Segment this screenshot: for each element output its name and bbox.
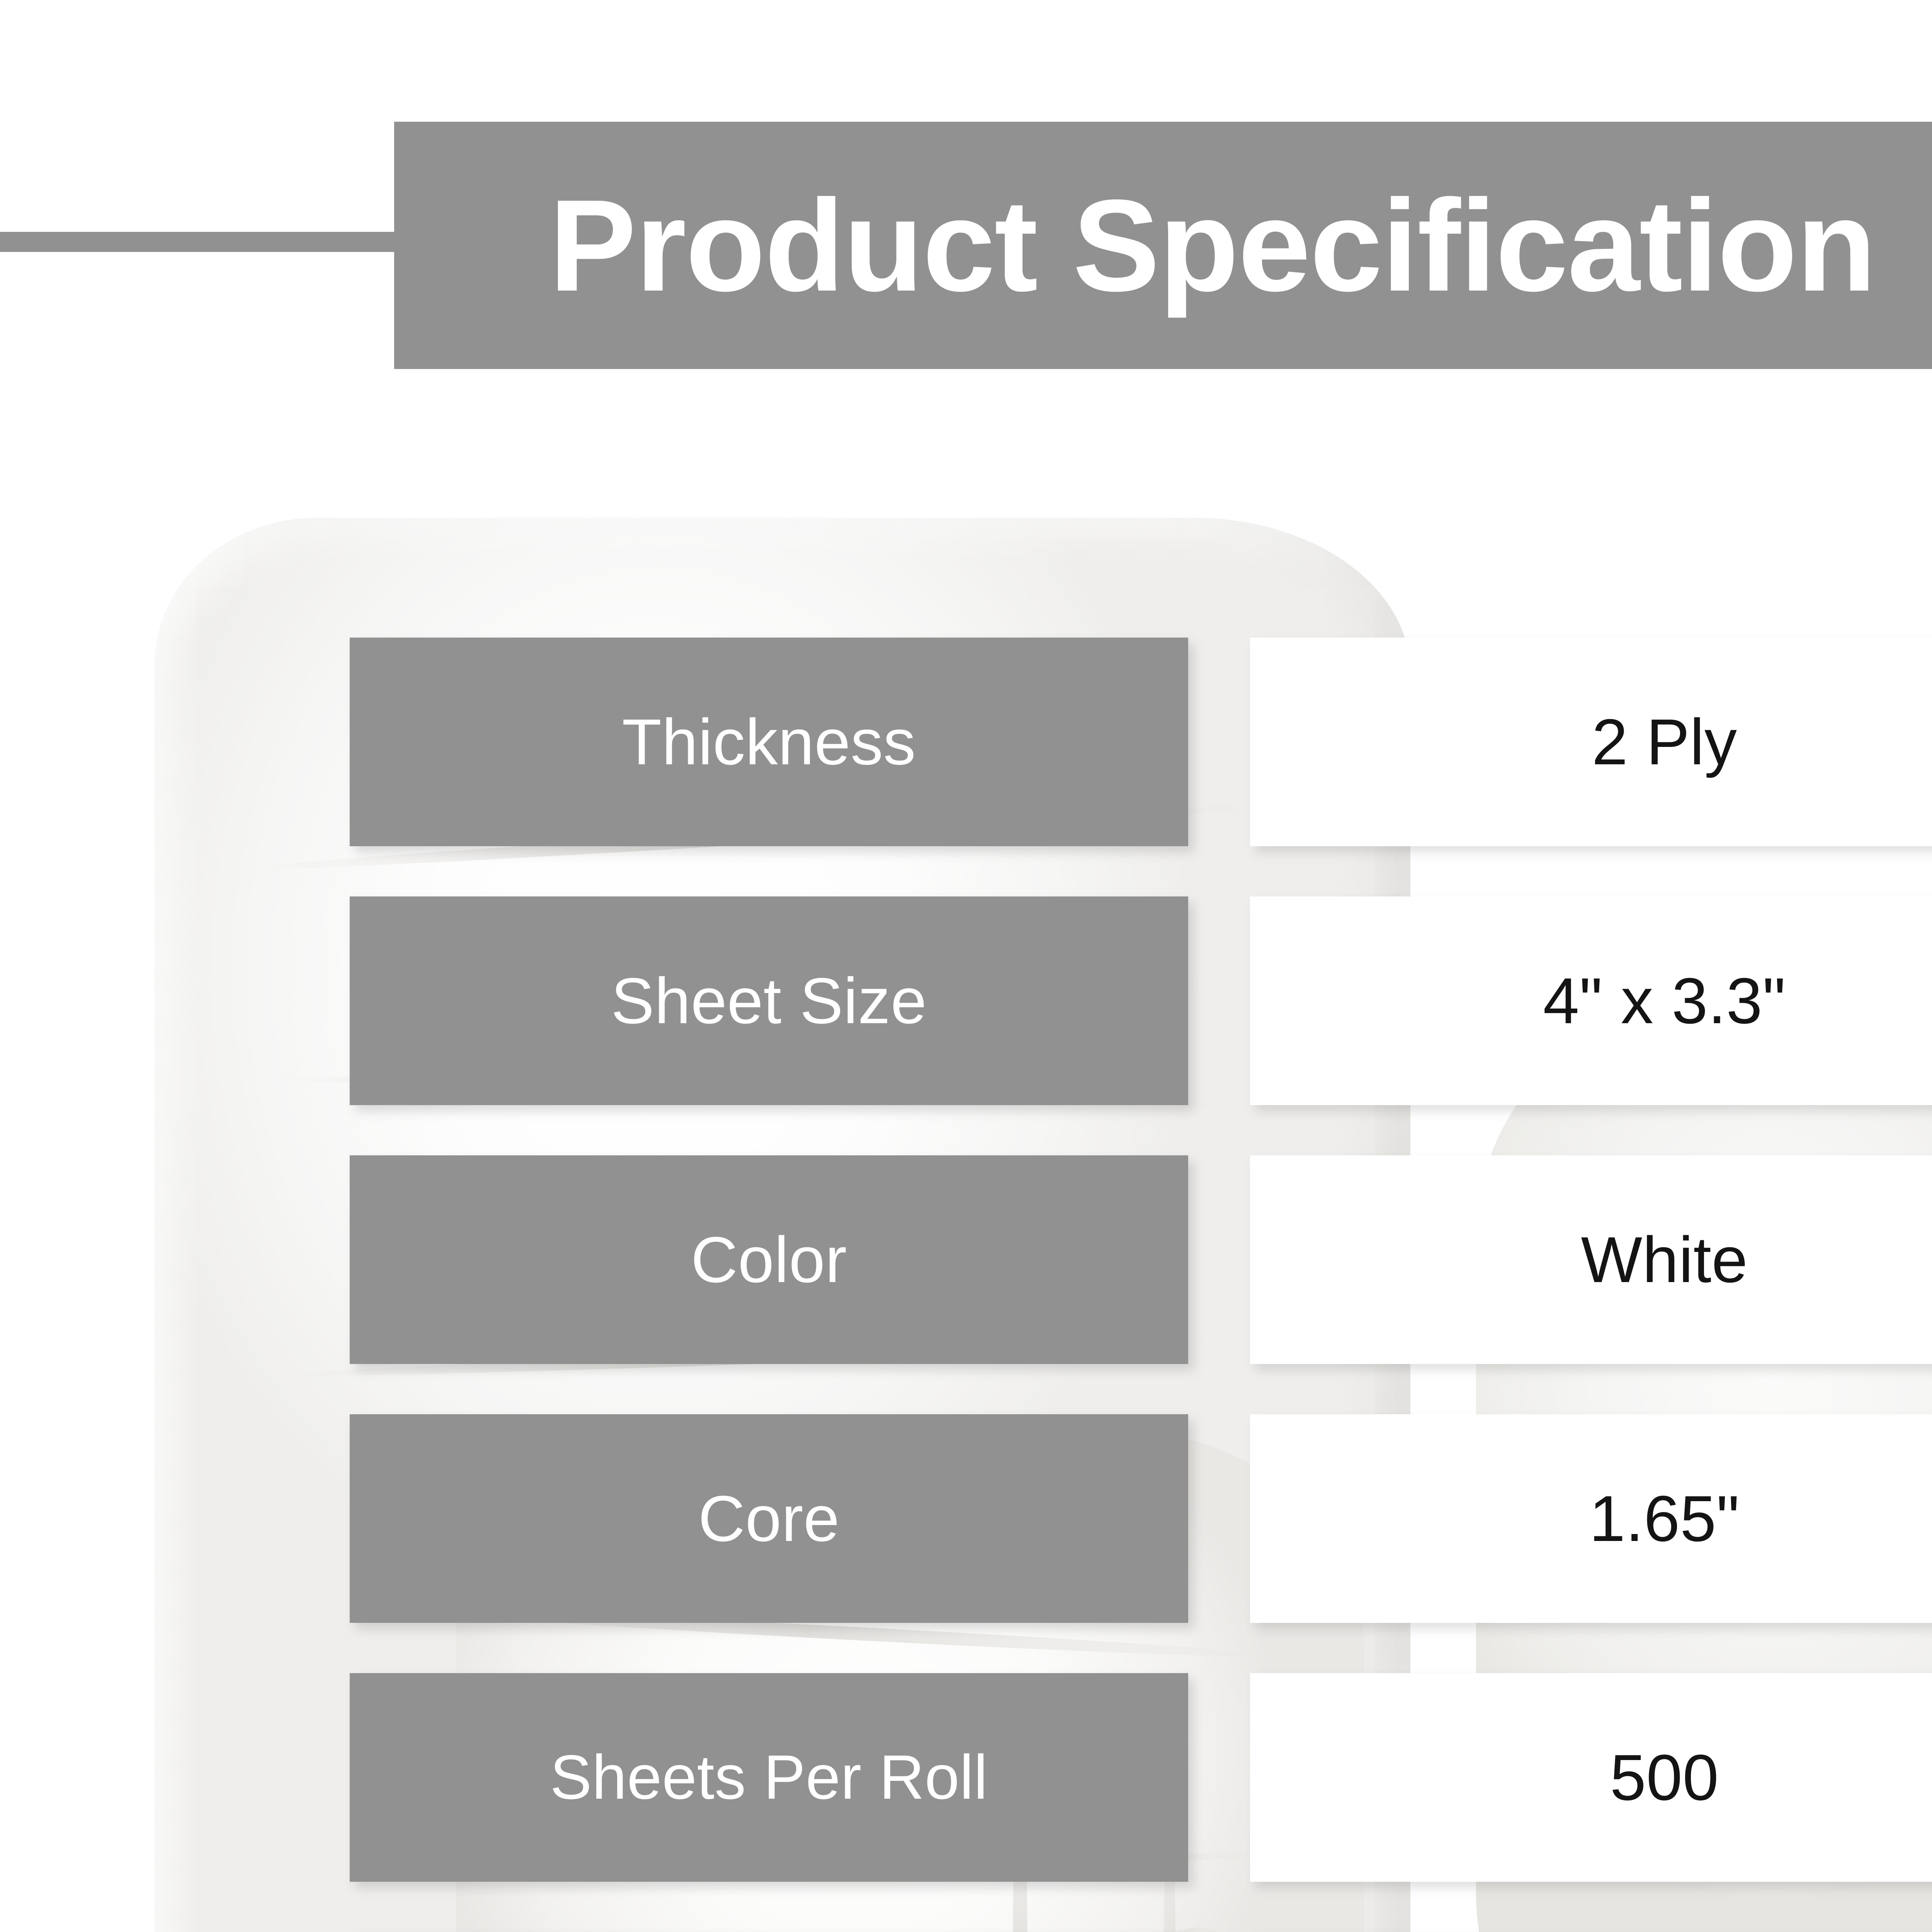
spec-value-cell: 500 (1250, 1673, 1932, 1882)
spec-label-cell: Sheet Size (350, 896, 1188, 1105)
spec-value-text: White (1581, 1227, 1748, 1292)
spec-value-text: 500 (1610, 1745, 1719, 1810)
table-row: Sheets Per Roll 500 (0, 1673, 1932, 1882)
table-row: Thickness 2 Ply (0, 638, 1932, 846)
spec-label-text: Color (691, 1227, 847, 1292)
page-title: Product Specification (549, 180, 1875, 311)
spec-label-cell: Color (350, 1155, 1188, 1364)
spec-value-text: 4" x 3.3" (1543, 968, 1786, 1033)
spec-value-text: 1.65" (1589, 1486, 1740, 1551)
spec-value-cell: 4" x 3.3" (1250, 896, 1932, 1105)
table-row: Sheet Size 4" x 3.3" (0, 896, 1932, 1105)
spec-label-cell: Core (350, 1414, 1188, 1623)
table-row: Core 1.65" (0, 1414, 1932, 1623)
spec-label-text: Sheets Per Roll (550, 1746, 988, 1809)
spec-label-text: Sheet Size (611, 968, 927, 1033)
title-banner: Product Specification (394, 122, 1932, 369)
spec-value-cell: 1.65" (1250, 1414, 1932, 1623)
page-header: Product Specification (0, 0, 1932, 386)
spec-label-cell: Sheets Per Roll (350, 1673, 1188, 1882)
spec-value-cell: White (1250, 1155, 1932, 1364)
spec-label-text: Core (698, 1486, 840, 1551)
spec-label-cell: Thickness (350, 638, 1188, 846)
spec-value-text: 2 Ply (1592, 709, 1737, 774)
spec-label-text: Thickness (622, 709, 916, 774)
spec-value-cell: 2 Ply (1250, 638, 1932, 846)
table-row: Color White (0, 1155, 1932, 1364)
header-rule-left (0, 232, 410, 252)
